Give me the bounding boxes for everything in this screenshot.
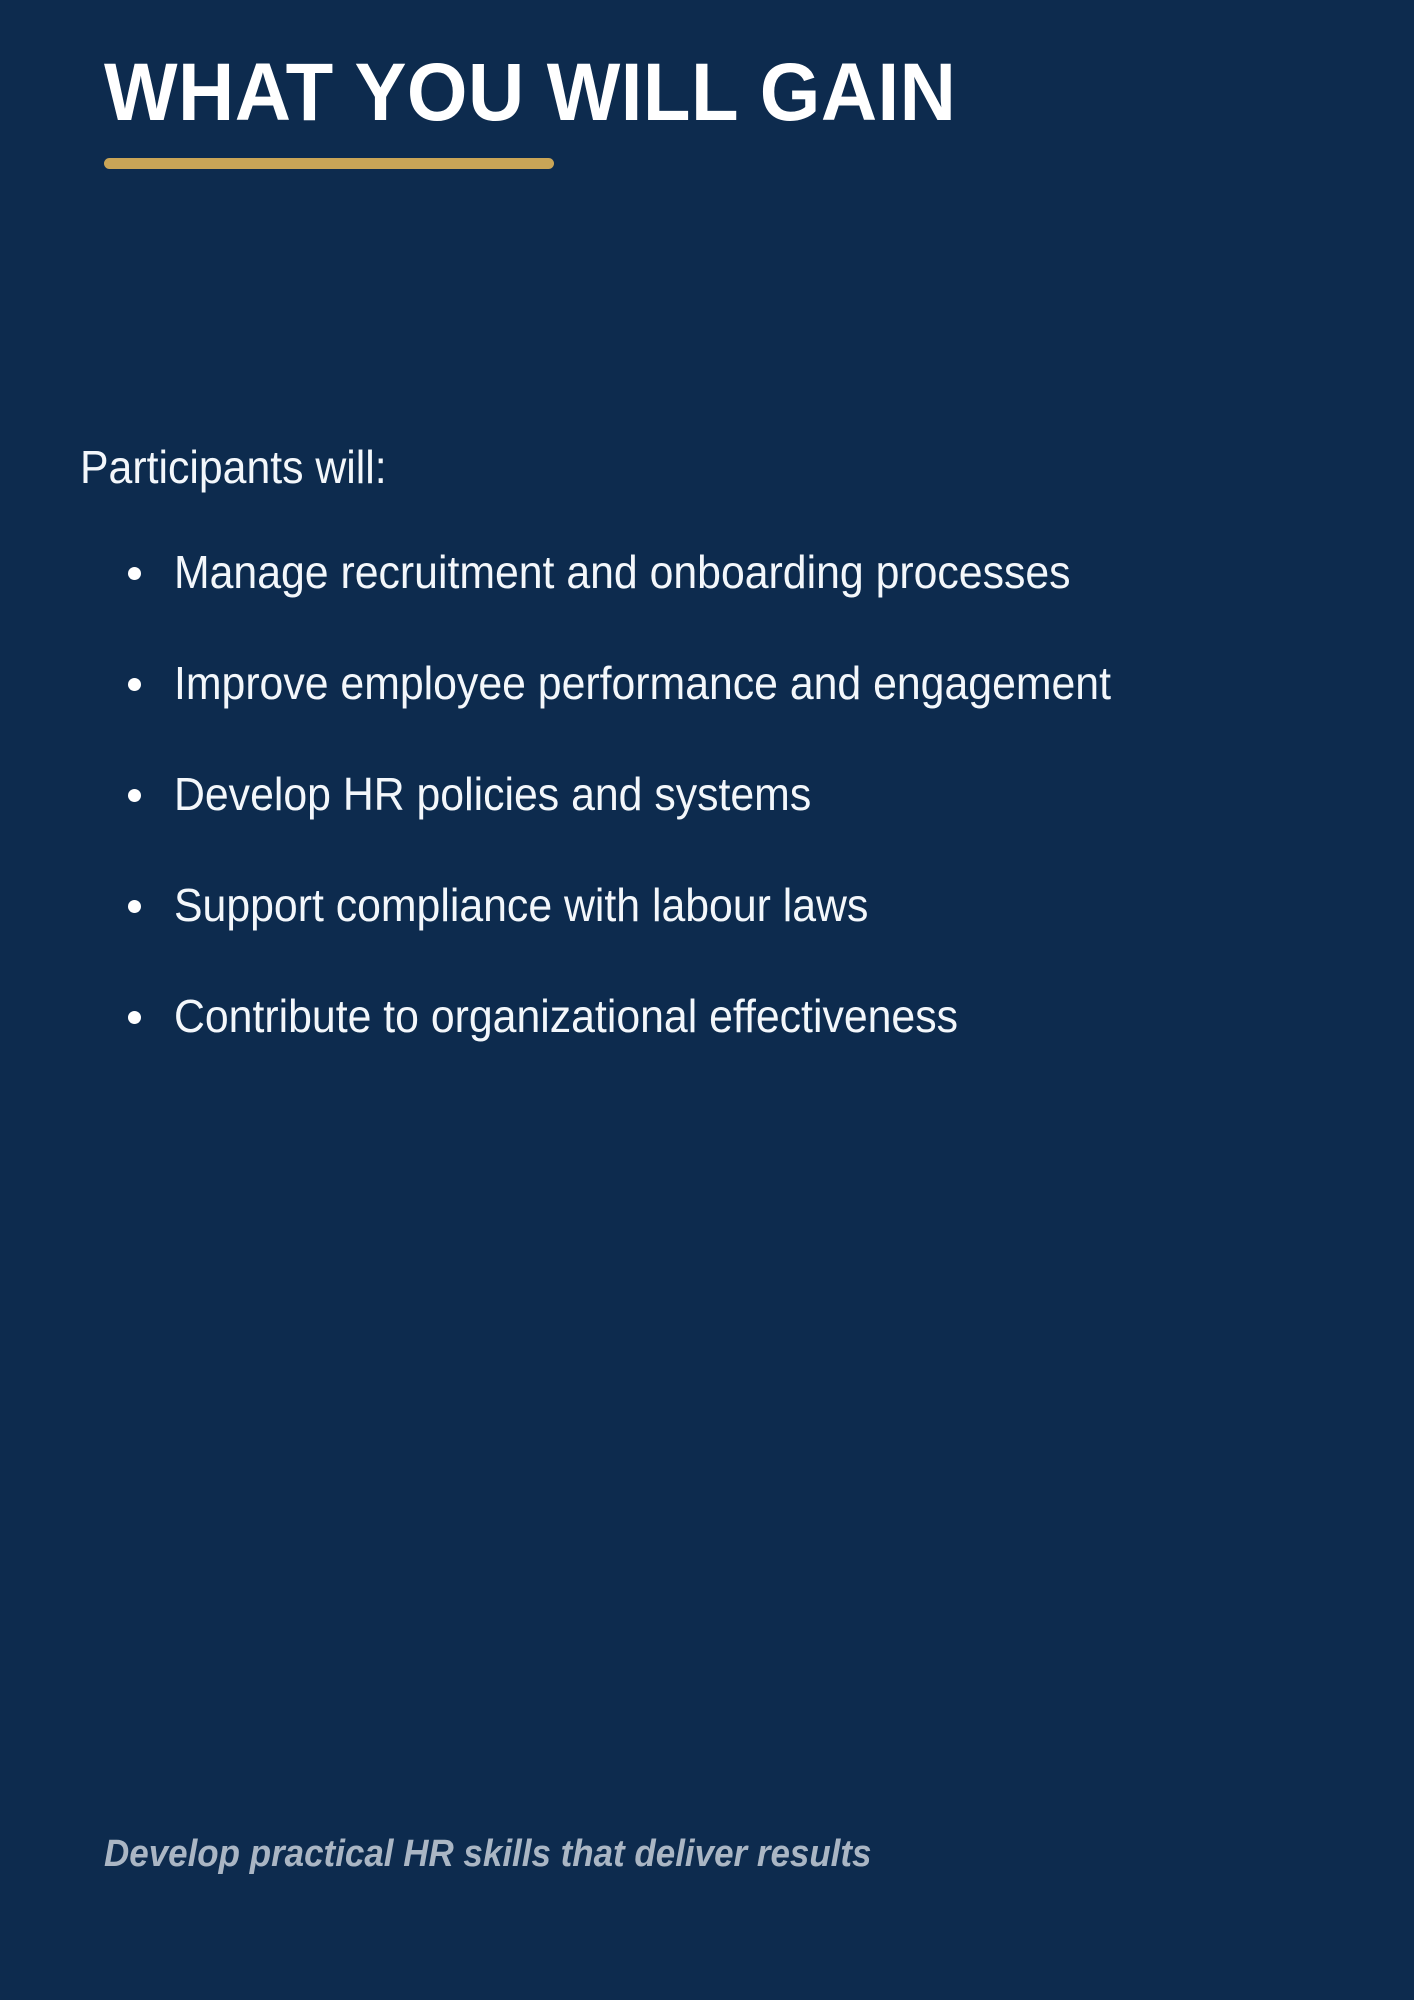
bullet-dot-icon [128, 567, 141, 580]
bullet-dot-icon [128, 1011, 141, 1024]
list-item: Support compliance with labour laws [122, 876, 1184, 935]
outcomes-list: Manage recruitment and onboarding proces… [80, 543, 1350, 1045]
lead-in-text: Participants will: [80, 440, 1261, 495]
list-item-label: Develop HR policies and systems [174, 765, 1113, 824]
list-item: Improve employee performance and engagem… [122, 654, 1184, 713]
page-title: WHAT YOU WILL GAIN [104, 52, 1273, 134]
list-item: Contribute to organizational effectivene… [122, 987, 1184, 1046]
bullet-dot-icon [128, 900, 141, 913]
body-content: Participants will: Manage recruitment an… [80, 440, 1350, 1046]
title-underline-rule [104, 158, 554, 169]
list-item-label: Support compliance with labour laws [174, 876, 1113, 935]
bullet-dot-icon [128, 789, 141, 802]
list-item-label: Manage recruitment and onboarding proces… [174, 543, 1113, 602]
list-item-label: Improve employee performance and engagem… [174, 654, 1113, 713]
slide-canvas: WHAT YOU WILL GAIN Participants will: Ma… [0, 0, 1414, 2000]
title-block: WHAT YOU WILL GAIN [104, 52, 1334, 169]
list-item: Manage recruitment and onboarding proces… [122, 543, 1184, 602]
bullet-dot-icon [128, 678, 141, 691]
footer-tagline: Develop practical HR skills that deliver… [104, 1832, 1236, 1878]
list-item-label: Contribute to organizational effectivene… [174, 987, 1113, 1046]
list-item: Develop HR policies and systems [122, 765, 1184, 824]
